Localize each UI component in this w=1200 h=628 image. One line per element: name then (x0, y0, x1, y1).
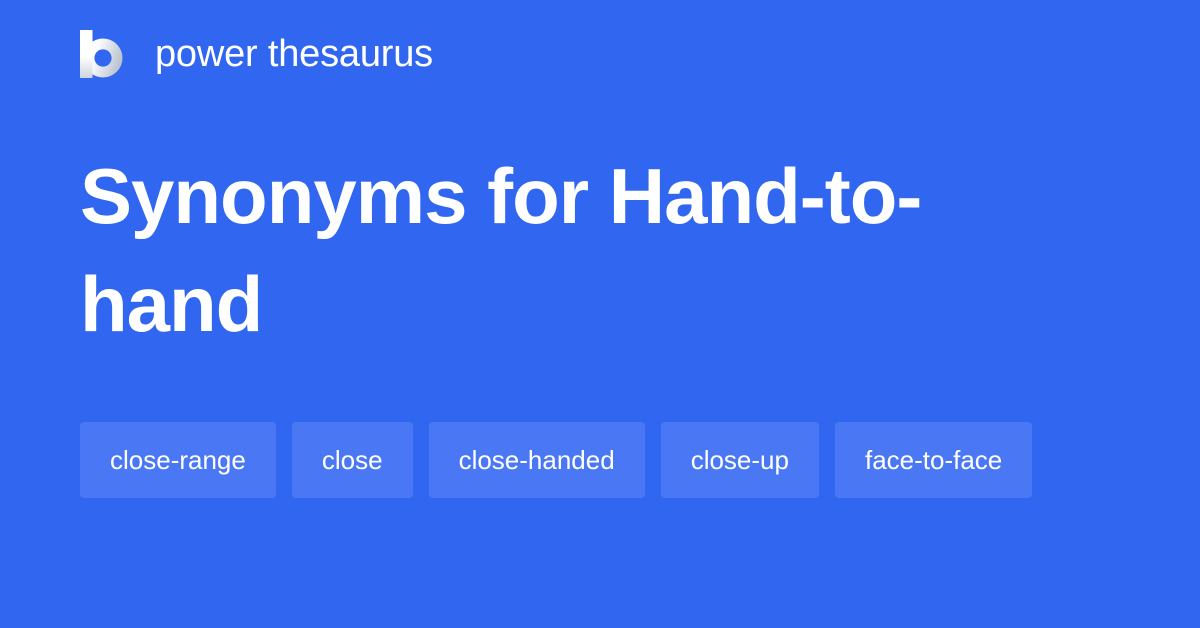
synonym-chip[interactable]: close-range (80, 422, 276, 498)
power-thesaurus-b-logo-icon (80, 30, 126, 78)
synonym-chip[interactable]: close-up (661, 422, 819, 498)
synonym-chip[interactable]: close (292, 422, 413, 498)
synonym-chip-list: close-range close close-handed close-up … (80, 422, 1120, 498)
share-card: power thesaurus Synonyms for Hand-to-han… (0, 0, 1200, 628)
brand-logo[interactable]: power thesaurus (80, 28, 433, 80)
page-title: Synonyms for Hand-to-hand (80, 142, 1080, 358)
synonym-chip[interactable]: close-handed (429, 422, 645, 498)
brand-name: power thesaurus (155, 30, 433, 78)
synonym-chip[interactable]: face-to-face (835, 422, 1032, 498)
